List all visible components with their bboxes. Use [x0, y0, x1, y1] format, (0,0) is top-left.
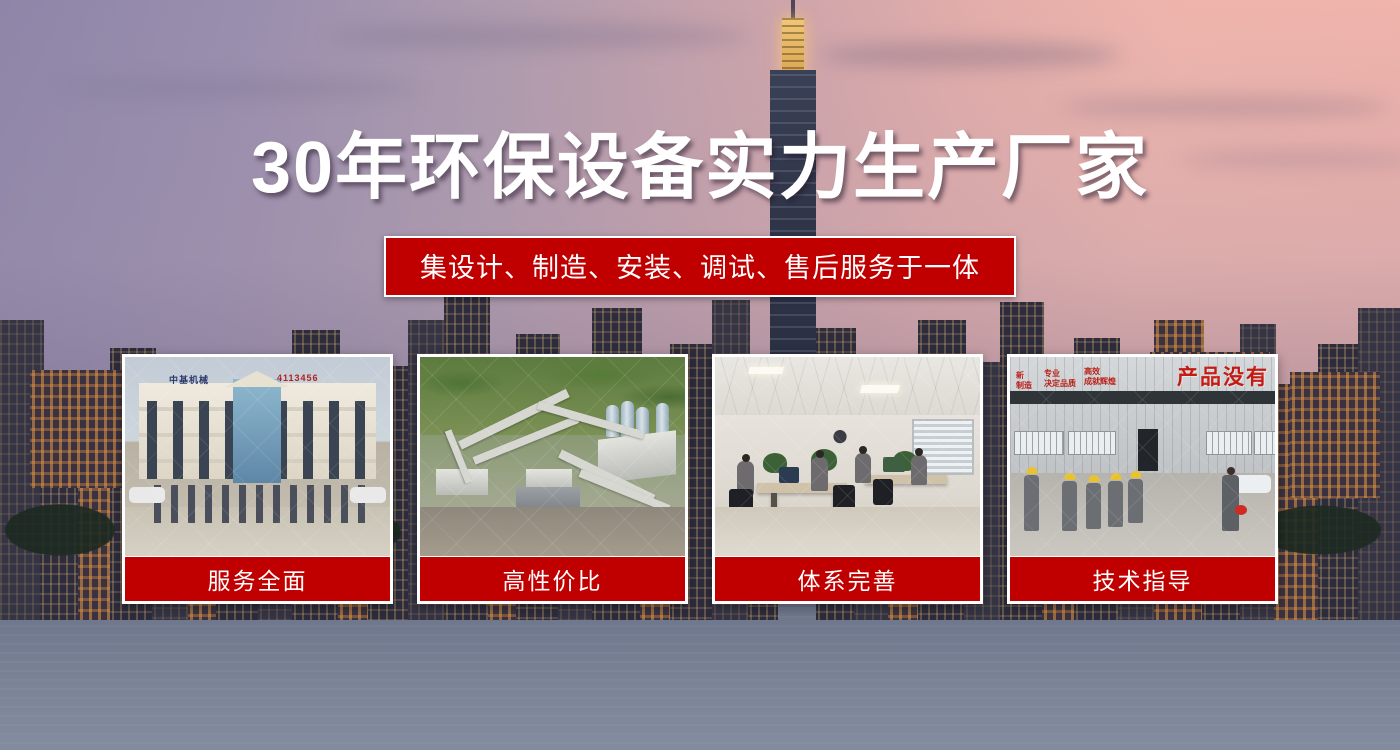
hero-banner: 30年环保设备实力生产厂家 集设计、制造、安装、调试、售后服务于一体 中基机械 …	[0, 0, 1400, 750]
subtitle-banner: 集设计、制造、安装、调试、售后服务于一体	[384, 236, 1016, 297]
card-photo-company-building: 中基机械 4113456	[122, 354, 393, 556]
building-sign-text: 中基机械	[169, 373, 209, 386]
factory-sign-text: 产品没有	[1177, 361, 1269, 391]
card-caption: 体系完善	[712, 556, 983, 604]
feature-card[interactable]: 中基机械 4113456 服务全面	[122, 354, 393, 604]
card-caption: 服务全面	[122, 556, 393, 604]
tower-spire	[791, 0, 795, 20]
card-photo-factory-workers: 产品没有 新制造 专业决定品质 高效成就辉煌	[1007, 354, 1278, 556]
building-phone-text: 4113456	[277, 373, 319, 383]
page-title: 30年环保设备实力生产厂家	[0, 132, 1400, 204]
feature-card[interactable]: 高性价比	[417, 354, 688, 604]
card-photo-office-interior	[712, 354, 983, 556]
feature-card-list: 中基机械 4113456 服务全面	[122, 354, 1278, 604]
card-caption: 高性价比	[417, 556, 688, 604]
feature-card[interactable]: 体系完善	[712, 354, 983, 604]
feature-card[interactable]: 产品没有 新制造 专业决定品质 高效成就辉煌	[1007, 354, 1278, 604]
card-caption: 技术指导	[1007, 556, 1278, 604]
card-photo-industrial-plant	[417, 354, 688, 556]
